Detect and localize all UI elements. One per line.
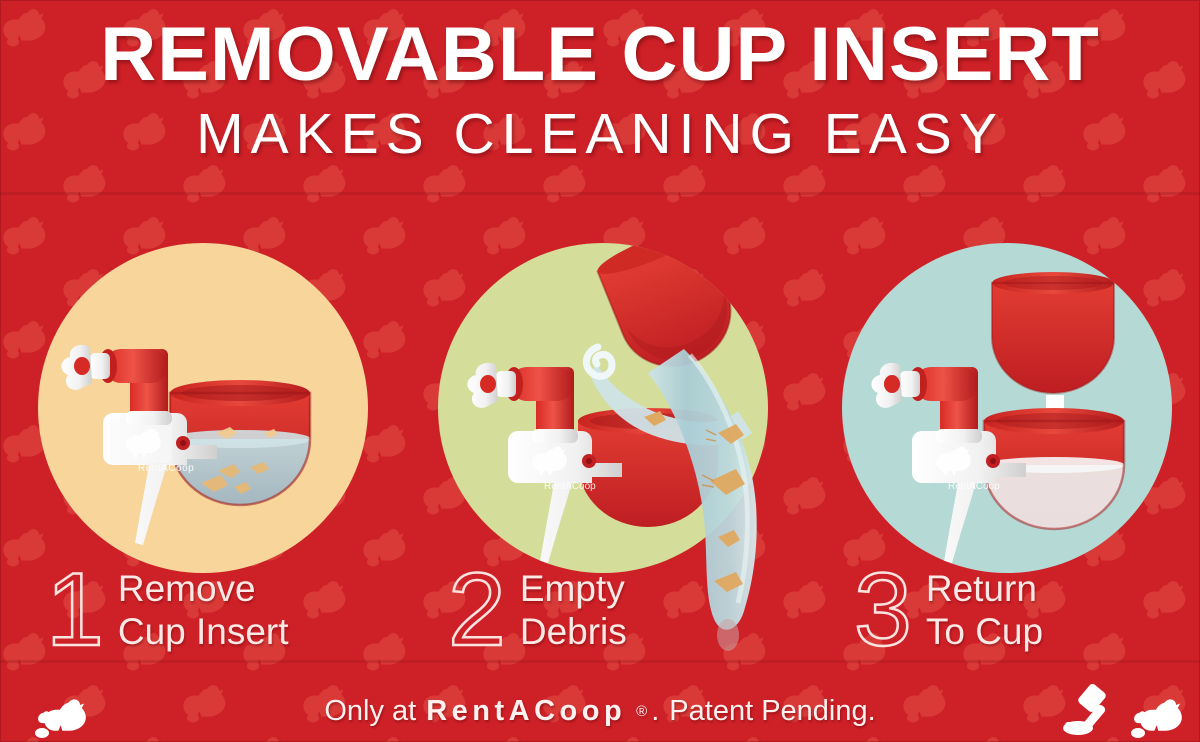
step-panel-2: RentACoop 2 Empty [428,243,778,663]
step-1-label-line1: Remove [118,568,289,611]
footer-period: . [651,695,659,728]
steps-row: RentACoop [0,243,1200,663]
svg-text:RentACoop: RentACoop [138,463,194,474]
hen-with-chicks-icon [1124,696,1182,740]
step-2-label-line1: Empty [520,568,627,611]
pattern-band [0,192,1200,195]
step-3-caption: 3 Return To Cup [848,565,1043,657]
step-3-label-line1: Return [926,568,1043,611]
svg-text:RentACoop: RentACoop [544,481,596,492]
headline-block: REMOVABLE CUP INSERT MAKES CLEANING EASY [0,18,1200,163]
headline-line-1: REMOVABLE CUP INSERT [0,18,1200,92]
step-3-number: 3 [848,565,912,657]
step-2-number: 2 [442,565,506,657]
step-2-label-line2: Debris [520,611,627,654]
step-1-disc: RentACoop [38,243,368,573]
gavel-icon [1062,684,1122,738]
headline-line-2: MAKES CLEANING EASY [0,106,1200,163]
step-1-label-line2: Cup Insert [118,611,289,654]
step-1-number: 1 [40,565,104,657]
step-panel-1: RentACoop [38,243,388,663]
step-1-caption: 1 Remove Cup Insert [40,565,289,657]
footer-bar: Only at RentACoop ® . Patent Pending. [0,680,1200,742]
footer-brand: RentACoop [426,695,626,728]
step-3-disc: RentACoop [842,243,1172,573]
step-3-label-line2: To Cup [926,611,1043,654]
step-1-illustration: RentACoop [38,243,368,573]
footer-only-at: Only at [324,695,416,728]
step-2-caption: 2 Empty Debris [442,565,627,657]
hen-with-chicks-icon [28,696,86,740]
step-panel-3: RentACoop 3 Return [828,243,1178,663]
footer-patent: Patent Pending. [669,695,875,728]
svg-text:RentACoop: RentACoop [948,481,1000,492]
step-2-illustration: RentACoop [438,243,768,573]
step-3-illustration: RentACoop [842,243,1172,573]
step-2-disc: RentACoop [438,243,768,573]
infographic-poster: REMOVABLE CUP INSERT MAKES CLEANING EASY [0,0,1200,742]
footer-registered-mark: ® [636,703,647,720]
